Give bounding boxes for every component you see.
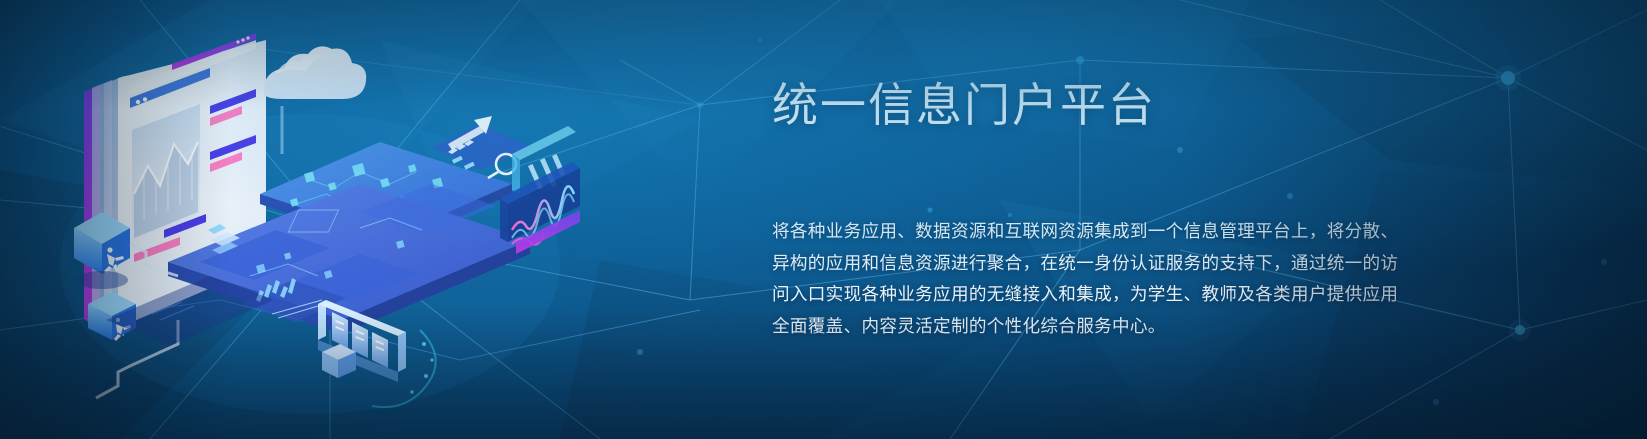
isometric-information-platform <box>60 14 580 424</box>
banner-description: 将各种业务应用、数据资源和互联网资源集成到一个信息管理平台上，将分散、 异构的应… <box>772 216 1464 342</box>
unified-information-portal-banner: 统一信息门户平台 将各种业务应用、数据资源和互联网资源集成到一个信息管理平台上，… <box>0 0 1647 439</box>
description-line: 问入口实现各种业务应用的无缝接入和集成，为学生、教师及各类用户提供应用 <box>772 279 1464 311</box>
description-line: 将各种业务应用、数据资源和互联网资源集成到一个信息管理平台上，将分散、 <box>772 216 1464 248</box>
description-line: 全面覆盖、内容灵活定制的个性化综合服务中心。 <box>772 311 1464 343</box>
page-title: 统一信息门户平台 <box>772 78 1472 132</box>
description-line: 异构的应用和信息资源进行聚合，在统一身份认证服务的支持下，通过统一的访 <box>772 248 1464 280</box>
banner-copy: 统一信息门户平台 将各种业务应用、数据资源和互联网资源集成到一个信息管理平台上，… <box>772 78 1472 342</box>
